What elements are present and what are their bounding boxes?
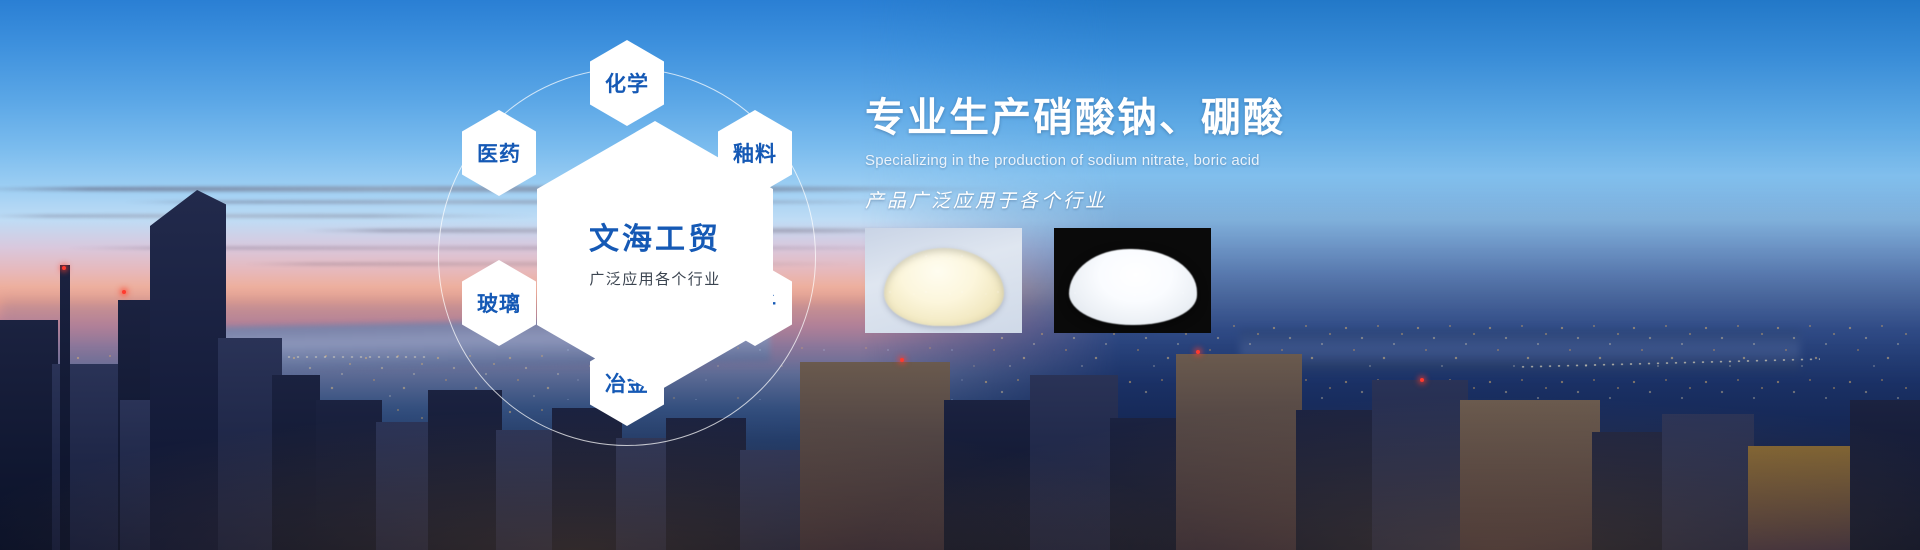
product-photo-sodium-nitrate <box>865 228 1022 333</box>
subtitle-chinese: 产品广泛应用于各个行业 <box>865 186 1865 213</box>
headline: 专业生产硝酸钠、硼酸 <box>865 96 1865 140</box>
industry-hexagon-diagram: 化学 釉料 电子 冶金 玻璃 医药 文海工贸 广泛应用各个行业 <box>430 18 880 496</box>
powder-grain-texture <box>884 248 1004 326</box>
company-name: 文海工贸 <box>589 225 721 255</box>
product-photo-group <box>865 228 1211 333</box>
powder-pile <box>884 248 1004 326</box>
hex-node-label: 医药 <box>477 138 521 168</box>
promo-banner: 化学 釉料 电子 冶金 玻璃 医药 文海工贸 广泛应用各个行业 专业生产硝酸钠、… <box>0 0 1920 550</box>
powder-grain-texture <box>1069 249 1197 325</box>
hex-node-label: 玻璃 <box>477 288 521 318</box>
hex-node-label: 釉料 <box>733 138 777 168</box>
banner-copy: 专业生产硝酸钠、硼酸 Specializing in the productio… <box>865 96 1865 213</box>
product-photo-boric-acid <box>1054 228 1211 333</box>
company-tagline: 广泛应用各个行业 <box>589 268 720 289</box>
hex-node-label: 化学 <box>605 68 649 98</box>
subtitle-english: Specializing in the production of sodium… <box>865 152 1865 169</box>
powder-pile <box>1069 249 1197 325</box>
